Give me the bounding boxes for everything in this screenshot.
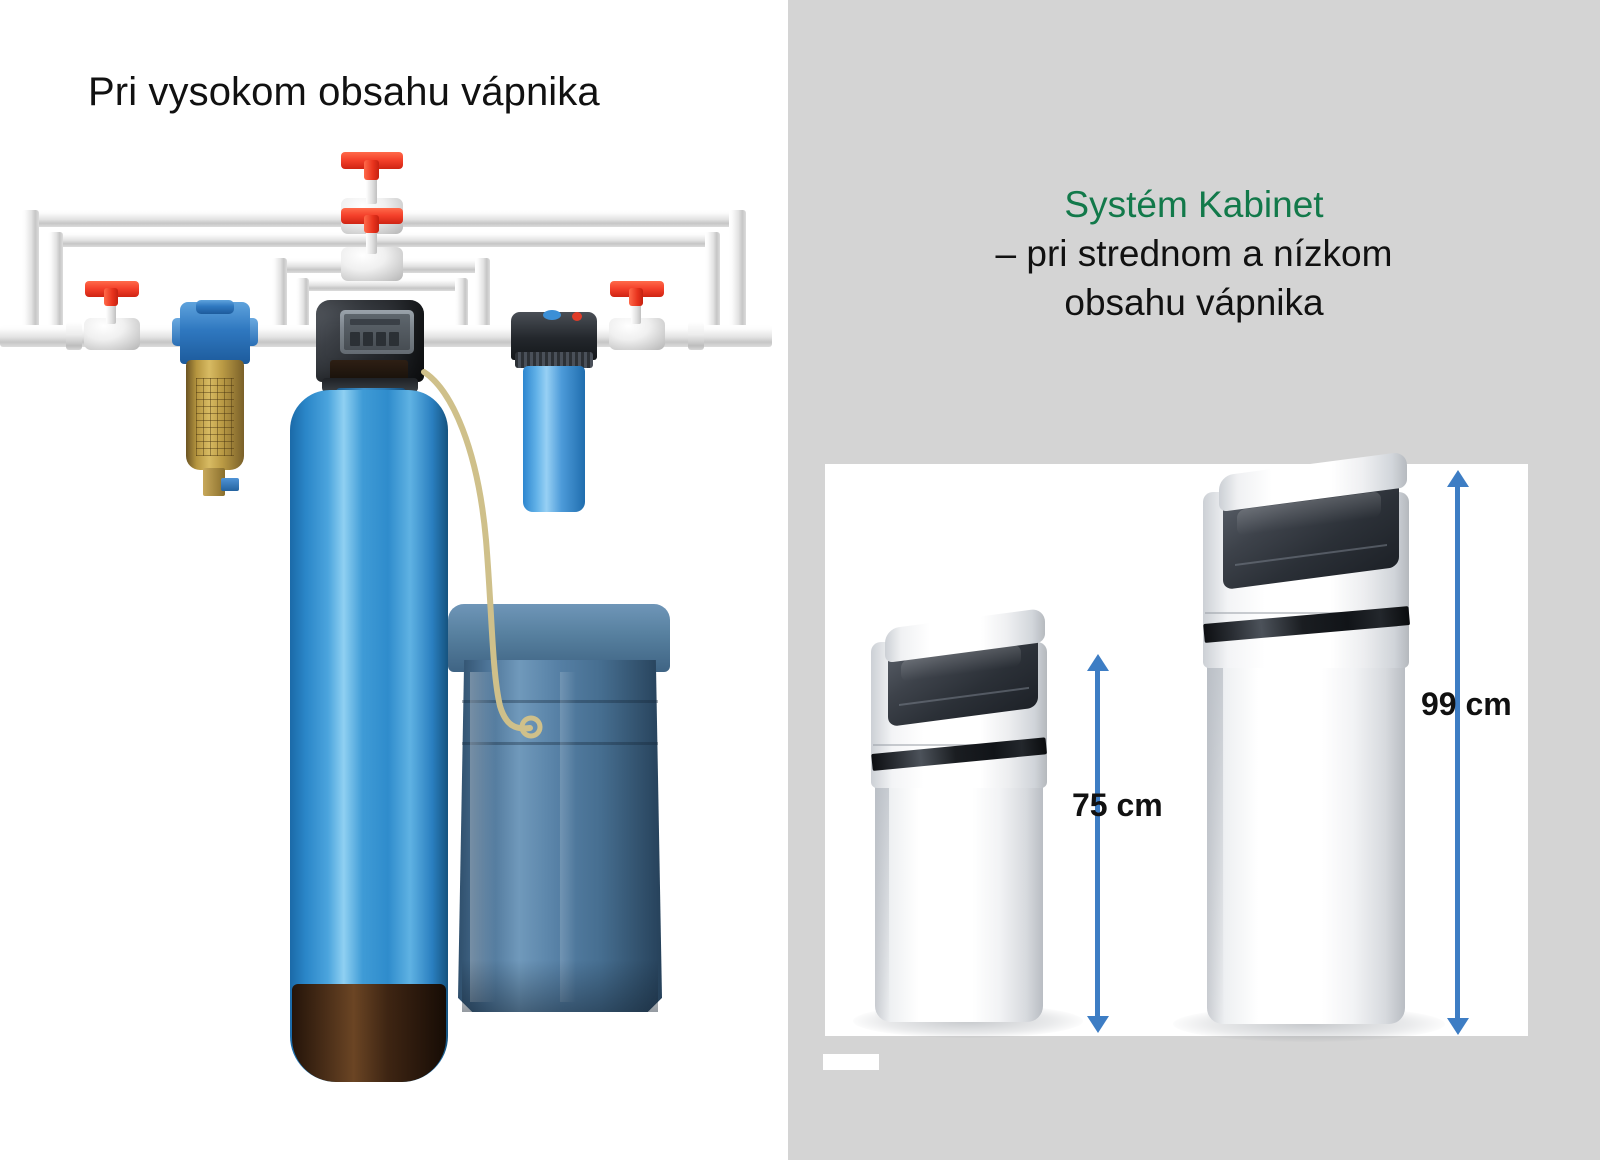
right-panel-title-line3: obsahu vápnika	[1064, 282, 1323, 323]
large-cabinet-height-label: 99 cm	[1421, 686, 1512, 723]
dimension-line	[1455, 486, 1460, 1020]
slide-canvas: Pri vysokom obsahu vápnika	[0, 0, 1600, 1160]
dimension-arrowhead-up	[1447, 470, 1469, 487]
right-panel-title-line2: – pri strednom a nízkom	[996, 233, 1393, 274]
cabinet-comparison-photo: 75 cm 99 cm	[825, 464, 1528, 1036]
brine-line-tube	[0, 0, 788, 1160]
large-cabinet-left-edge	[1207, 644, 1223, 1024]
small-cabinet-height-label: 75 cm	[1072, 787, 1163, 824]
dimension-line	[1095, 670, 1100, 1018]
dimension-arrowhead-up	[1087, 654, 1109, 671]
small-cabinet-body	[875, 764, 1043, 1022]
dimension-arrowhead-down	[1087, 1016, 1109, 1033]
dimension-arrowhead-down	[1447, 1018, 1469, 1035]
right-panel-title-green: Systém Kabinet	[1064, 184, 1323, 225]
large-cabinet-body	[1207, 644, 1405, 1024]
right-panel-corner-notch	[823, 1054, 879, 1070]
left-panel: Pri vysokom obsahu vápnika	[0, 0, 788, 1160]
small-cabinet-left-edge	[875, 764, 889, 1022]
right-panel-title: Systém Kabinet – pri strednom a nízkom o…	[808, 180, 1580, 327]
